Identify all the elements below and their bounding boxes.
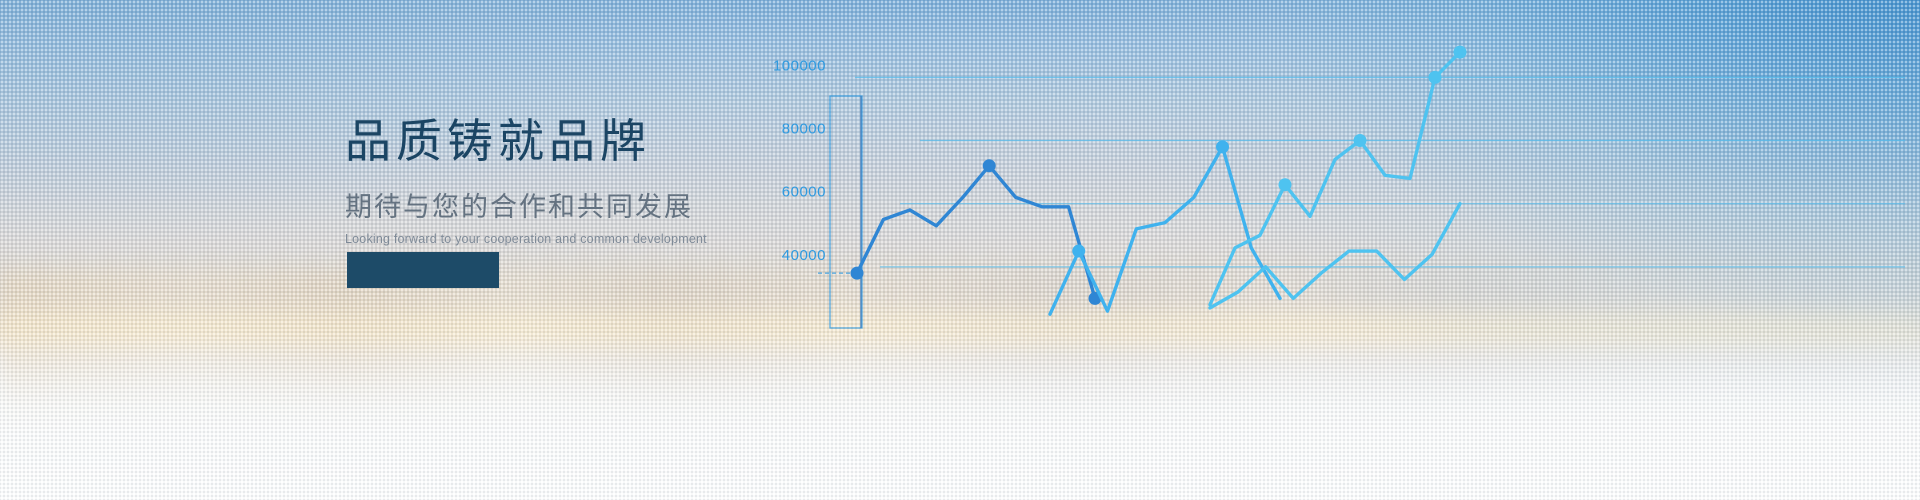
chart-data-point xyxy=(1072,245,1085,258)
chart-data-point xyxy=(1216,140,1229,153)
chart-series-group xyxy=(851,46,1467,315)
page-title: 品质铸就品牌 xyxy=(345,118,707,164)
y-axis-tick-label: 100000 xyxy=(773,57,826,74)
chart-data-point xyxy=(1429,71,1442,84)
chart-line-series-1 xyxy=(857,166,1095,299)
chart-line-series-4 xyxy=(1210,204,1460,308)
page-tagline: Looking forward to your cooperation and … xyxy=(345,221,707,246)
chart-data-point xyxy=(851,267,864,280)
chart-axis-box xyxy=(830,96,862,328)
hero-text-block: 品质铸就品牌 期待与您的合作和共同发展 Looking forward to y… xyxy=(345,118,707,246)
chart-line-series-2 xyxy=(1050,147,1280,314)
chart-data-point xyxy=(1454,46,1467,59)
line-chart: 400006000080000100000 xyxy=(760,0,1920,500)
y-axis-tick-label: 60000 xyxy=(782,184,826,201)
chart-data-point xyxy=(1279,178,1292,191)
cta-button[interactable] xyxy=(347,252,499,288)
y-axis-tick-label: 40000 xyxy=(782,247,826,264)
y-axis-tick-label: 80000 xyxy=(782,121,826,138)
hero-banner: 品质铸就品牌 期待与您的合作和共同发展 Looking forward to y… xyxy=(0,0,1920,500)
axis-frame xyxy=(830,96,862,328)
chart-svg: 400006000080000100000 xyxy=(760,0,1920,500)
page-subtitle: 期待与您的合作和共同发展 xyxy=(345,164,707,221)
chart-data-point xyxy=(983,159,996,172)
chart-y-tick-labels: 400006000080000100000 xyxy=(773,57,826,263)
chart-data-point xyxy=(1354,134,1367,147)
